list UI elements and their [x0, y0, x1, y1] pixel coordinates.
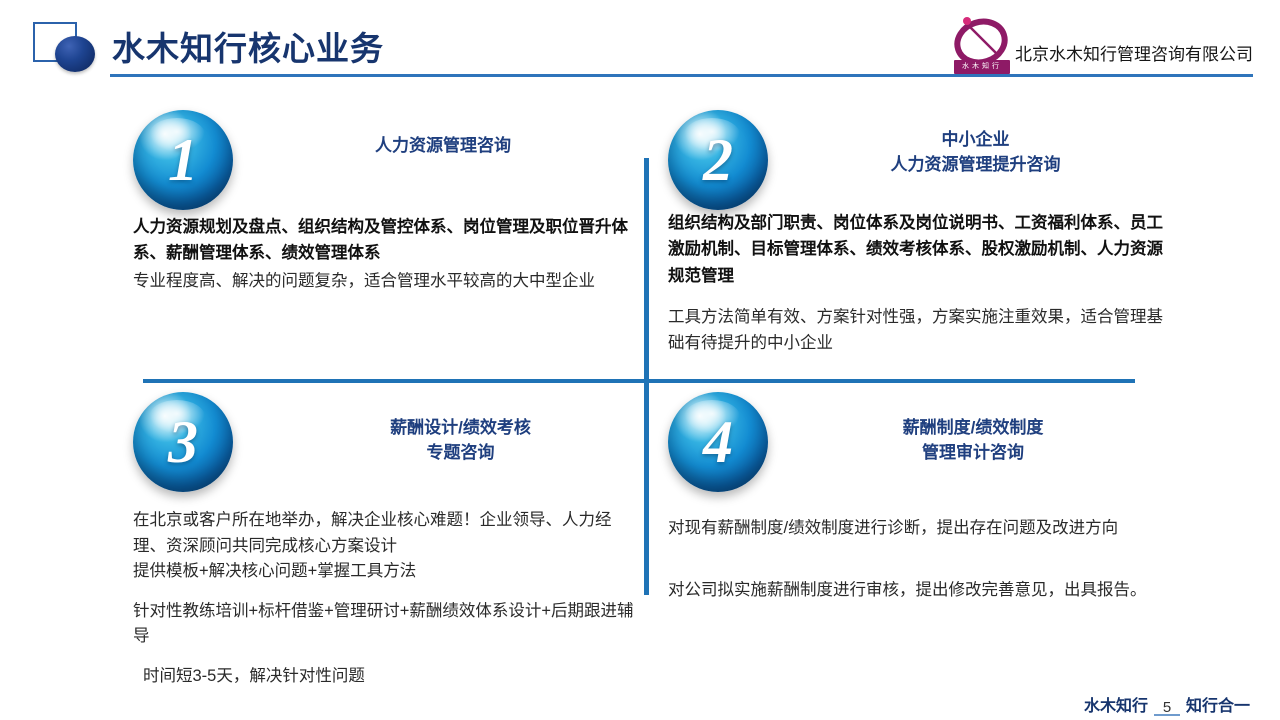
logo-swoosh-icon: [945, 14, 1017, 66]
quadrant-4-head: 4 薪酬制度/绩效制度 管理审计咨询: [668, 392, 1168, 492]
page-number-wrap: 5: [1154, 699, 1180, 716]
number-orb-2-label: 2: [668, 110, 768, 210]
footer: 水木知行 5 知行合一: [1084, 692, 1250, 716]
quadrant-2-title-line-2: 人力资源管理提升咨询: [783, 153, 1168, 178]
vertical-divider: [644, 158, 649, 595]
quadrant-2-head: 2 中小企业 人力资源管理提升咨询: [668, 110, 1168, 210]
quadrant-4-title-line-1: 薪酬制度/绩效制度: [778, 416, 1168, 441]
quadrant-1-title: 人力资源管理咨询: [248, 134, 638, 159]
quadrant-1-para-1: 专业程度高、解决的问题复杂，适合管理水平较高的大中型企业: [133, 269, 638, 295]
quadrant-2-bold-text: 组织结构及部门职责、岗位体系及岗位说明书、工资福利体系、员工激励机制、目标管理体…: [668, 210, 1168, 289]
quadrant-1-head: 1 人力资源管理咨询: [133, 110, 638, 210]
quadrant-4-title-line-2: 管理审计咨询: [778, 441, 1168, 466]
logo-band: 水木知行: [954, 60, 1010, 74]
number-orb-4-label: 4: [668, 392, 768, 492]
page-number: 5: [1163, 699, 1171, 716]
footer-right-text: 知行合一: [1186, 692, 1250, 716]
logo-band-text: 水木知行: [954, 60, 1010, 74]
header-underline: [110, 74, 1253, 77]
quadrant-2-title-line-1: 中小企业: [783, 128, 1168, 153]
quadrant-1: 1 人力资源管理咨询 人力资源规划及盘点、组织结构及管控体系、岗位管理及职位晋升…: [133, 110, 638, 294]
quadrant-2: 2 中小企业 人力资源管理提升咨询 组织结构及部门职责、岗位体系及岗位说明书、工…: [668, 110, 1168, 356]
quadrant-4-para-1: 对现有薪酬制度/绩效制度进行诊断，提出存在问题及改进方向: [668, 516, 1168, 542]
quadrant-3-para-1: 在北京或客户所在地举办，解决企业核心难题！企业领导、人力经理、资深顾问共同完成核…: [133, 508, 638, 585]
quadrant-1-body: 人力资源规划及盘点、组织结构及管控体系、岗位管理及职位晋升体系、薪酬管理体系、绩…: [133, 214, 638, 294]
slide-root: 水木知行核心业务 水木知行 北京水木知行管理咨询有限公司 1 人力资源管理咨询 …: [0, 0, 1280, 720]
quadrant-3-title-line-2: 专题咨询: [283, 441, 638, 466]
quadrant-3-para-3: 时间短3-5天，解决针对性问题: [133, 664, 638, 690]
company-logo: 水木知行: [945, 14, 1017, 76]
horizontal-divider: [143, 379, 1135, 383]
quadrant-3-body: 在北京或客户所在地举办，解决企业核心难题！企业领导、人力经理、资深顾问共同完成核…: [133, 508, 638, 689]
quadrant-2-title: 中小企业 人力资源管理提升咨询: [783, 128, 1168, 177]
quadrant-4-title: 薪酬制度/绩效制度 管理审计咨询: [778, 416, 1168, 465]
quadrant-3-para-2: 针对性教练培训+标杆借鉴+管理研讨+薪酬绩效体系设计+后期跟进辅导: [133, 599, 638, 650]
number-orb-1-label: 1: [133, 110, 233, 210]
quadrant-1-bold-text: 人力资源规划及盘点、组织结构及管控体系、岗位管理及职位晋升体系、薪酬管理体系、绩…: [133, 214, 638, 267]
number-orb-3-label: 3: [133, 392, 233, 492]
quadrant-3-title-line-1: 薪酬设计/绩效考核: [283, 416, 638, 441]
header-decoration-mark: [33, 22, 83, 66]
quadrant-3-head: 3 薪酬设计/绩效考核 专题咨询: [133, 392, 638, 492]
quadrant-2-body: 组织结构及部门职责、岗位体系及岗位说明书、工资福利体系、员工激励机制、目标管理体…: [668, 210, 1168, 356]
quadrant-3-title: 薪酬设计/绩效考核 专题咨询: [283, 416, 638, 465]
quadrant-4: 4 薪酬制度/绩效制度 管理审计咨询 对现有薪酬制度/绩效制度进行诊断，提出存在…: [668, 392, 1168, 603]
quadrant-4-para-2: 对公司拟实施薪酬制度进行审核，提出修改完善意见，出具报告。: [668, 578, 1168, 604]
company-name: 北京水木知行管理咨询有限公司: [1015, 40, 1253, 65]
footer-left-text: 水木知行: [1084, 692, 1148, 716]
navy-orb-icon: [55, 36, 95, 72]
quadrant-2-para-1: 工具方法简单有效、方案针对性强，方案实施注重效果，适合管理基础有待提升的中小企业: [668, 305, 1168, 356]
page-title: 水木知行核心业务: [112, 22, 384, 70]
quadrant-4-body: 对现有薪酬制度/绩效制度进行诊断，提出存在问题及改进方向 对公司拟实施薪酬制度进…: [668, 516, 1168, 603]
quadrant-3: 3 薪酬设计/绩效考核 专题咨询 在北京或客户所在地举办，解决企业核心难题！企业…: [133, 392, 638, 689]
